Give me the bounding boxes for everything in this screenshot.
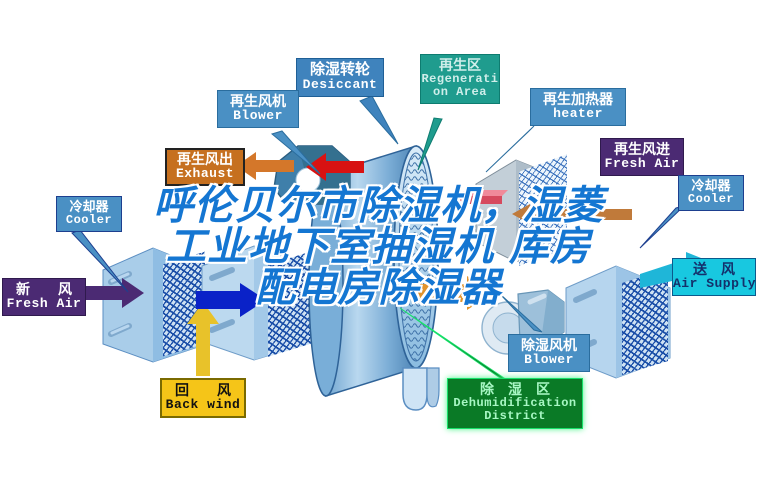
dehumidifier-schematic: xt 除湿转轮 Desiccant 再生风机 Blower 再生区 Regene… <box>0 0 757 488</box>
label-cooler-left-en: Cooler <box>57 214 121 227</box>
label-regeneration-exhaust-en: Exhaust <box>167 167 243 181</box>
label-desiccant-wheel-cn: 除湿转轮 <box>297 62 383 78</box>
label-regeneration-heater-en: heater <box>531 107 625 121</box>
label-cooler-right-en: Cooler <box>679 193 743 206</box>
label-regeneration-fresh-air-in-en: Fresh Air <box>601 157 683 171</box>
label-dehumidification-district-en2: District <box>448 410 582 423</box>
label-regeneration-heater-cn: 再生加热器 <box>531 92 625 107</box>
label-fresh-air-in-en: Fresh Air <box>3 297 85 311</box>
label-cooler-right-cn: 冷却器 <box>679 179 743 193</box>
label-regeneration-area-cn: 再生区 <box>421 58 499 73</box>
label-regeneration-area: 再生区 Regenerati on Area <box>420 54 500 104</box>
label-back-wind-cn: 回 风 <box>162 383 244 398</box>
label-cooler-right: 冷却器 Cooler <box>678 175 744 211</box>
label-regeneration-exhaust: 再生风出 Exhaust <box>165 148 245 186</box>
label-cooler-left-cn: 冷却器 <box>57 200 121 214</box>
label-back-wind-en: Back wind <box>162 398 244 412</box>
label-regeneration-blower-en: Blower <box>218 109 298 123</box>
label-desiccant-wheel-en: Desiccant <box>297 78 383 92</box>
label-air-supply: 送 风 Air Supply <box>672 258 756 296</box>
label-fresh-air-in-cn: 新 风 <box>3 282 85 297</box>
label-regeneration-blower-cn: 再生风机 <box>218 94 298 109</box>
label-regeneration-fresh-air-in-cn: 再生风进 <box>601 142 683 157</box>
label-regeneration-fresh-air-in: 再生风进 Fresh Air <box>600 138 684 176</box>
label-regeneration-blower: 再生风机 Blower <box>217 90 299 128</box>
label-dehumidification-district: 除 湿 区 Dehumidification District <box>447 378 583 429</box>
label-dehumidification-blower-en: Blower <box>509 353 589 367</box>
label-dehumidification-district-cn: 除 湿 区 <box>448 382 582 397</box>
label-desiccant-wheel: 除湿转轮 Desiccant <box>296 58 384 97</box>
label-air-supply-en: Air Supply <box>673 277 755 291</box>
label-air-supply-cn: 送 风 <box>673 262 755 277</box>
label-regeneration-exhaust-cn: 再生风出 <box>167 152 243 167</box>
label-cooler-left: 冷却器 Cooler <box>56 196 122 232</box>
label-regeneration-heater: 再生加热器 heater <box>530 88 626 126</box>
label-fresh-air-in: 新 风 Fresh Air <box>2 278 86 316</box>
label-dehumidification-blower-cn: 除湿风机 <box>509 338 589 353</box>
label-back-wind: 回 风 Back wind <box>160 378 246 418</box>
label-dehumidification-blower: 除湿风机 Blower <box>508 334 590 372</box>
label-regeneration-area-en2: on Area <box>421 86 499 99</box>
